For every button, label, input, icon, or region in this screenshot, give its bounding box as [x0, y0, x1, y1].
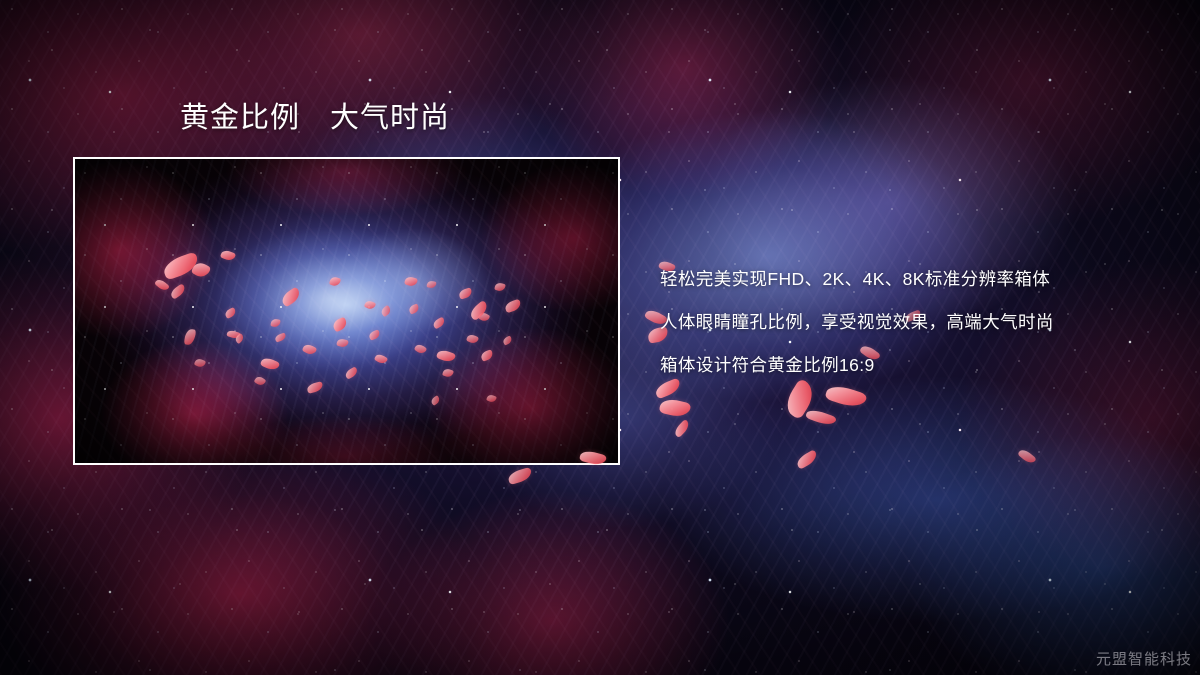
petal — [507, 467, 533, 485]
preview-image — [75, 159, 618, 463]
petal — [805, 407, 837, 428]
preview-vignette — [75, 159, 618, 463]
body-line-1: 轻松完美实现FHD、2K、4K、8K标准分辨率箱体 — [660, 258, 1160, 301]
watermark: 元盟智能科技 — [1096, 648, 1192, 669]
page-title: 黄金比例 大气时尚 — [180, 102, 450, 135]
petal — [1017, 447, 1037, 465]
preview-frame — [73, 157, 620, 465]
body-line-3: 箱体设计符合黄金比例16:9 — [660, 344, 1160, 387]
body-line-2: 人体眼睛瞳孔比例，享受视觉效果，高端大气时尚 — [660, 301, 1160, 344]
presentation-slide: 黄金比例 大气时尚 轻松完美实现FHD、2K、4K、8K标准分辨率箱体 人体眼睛… — [0, 0, 1200, 675]
petal — [795, 449, 820, 470]
petal — [673, 419, 692, 438]
body-copy: 轻松完美实现FHD、2K、4K、8K标准分辨率箱体 人体眼睛瞳孔比例，享受视觉效… — [660, 258, 1160, 387]
petal — [659, 397, 692, 420]
